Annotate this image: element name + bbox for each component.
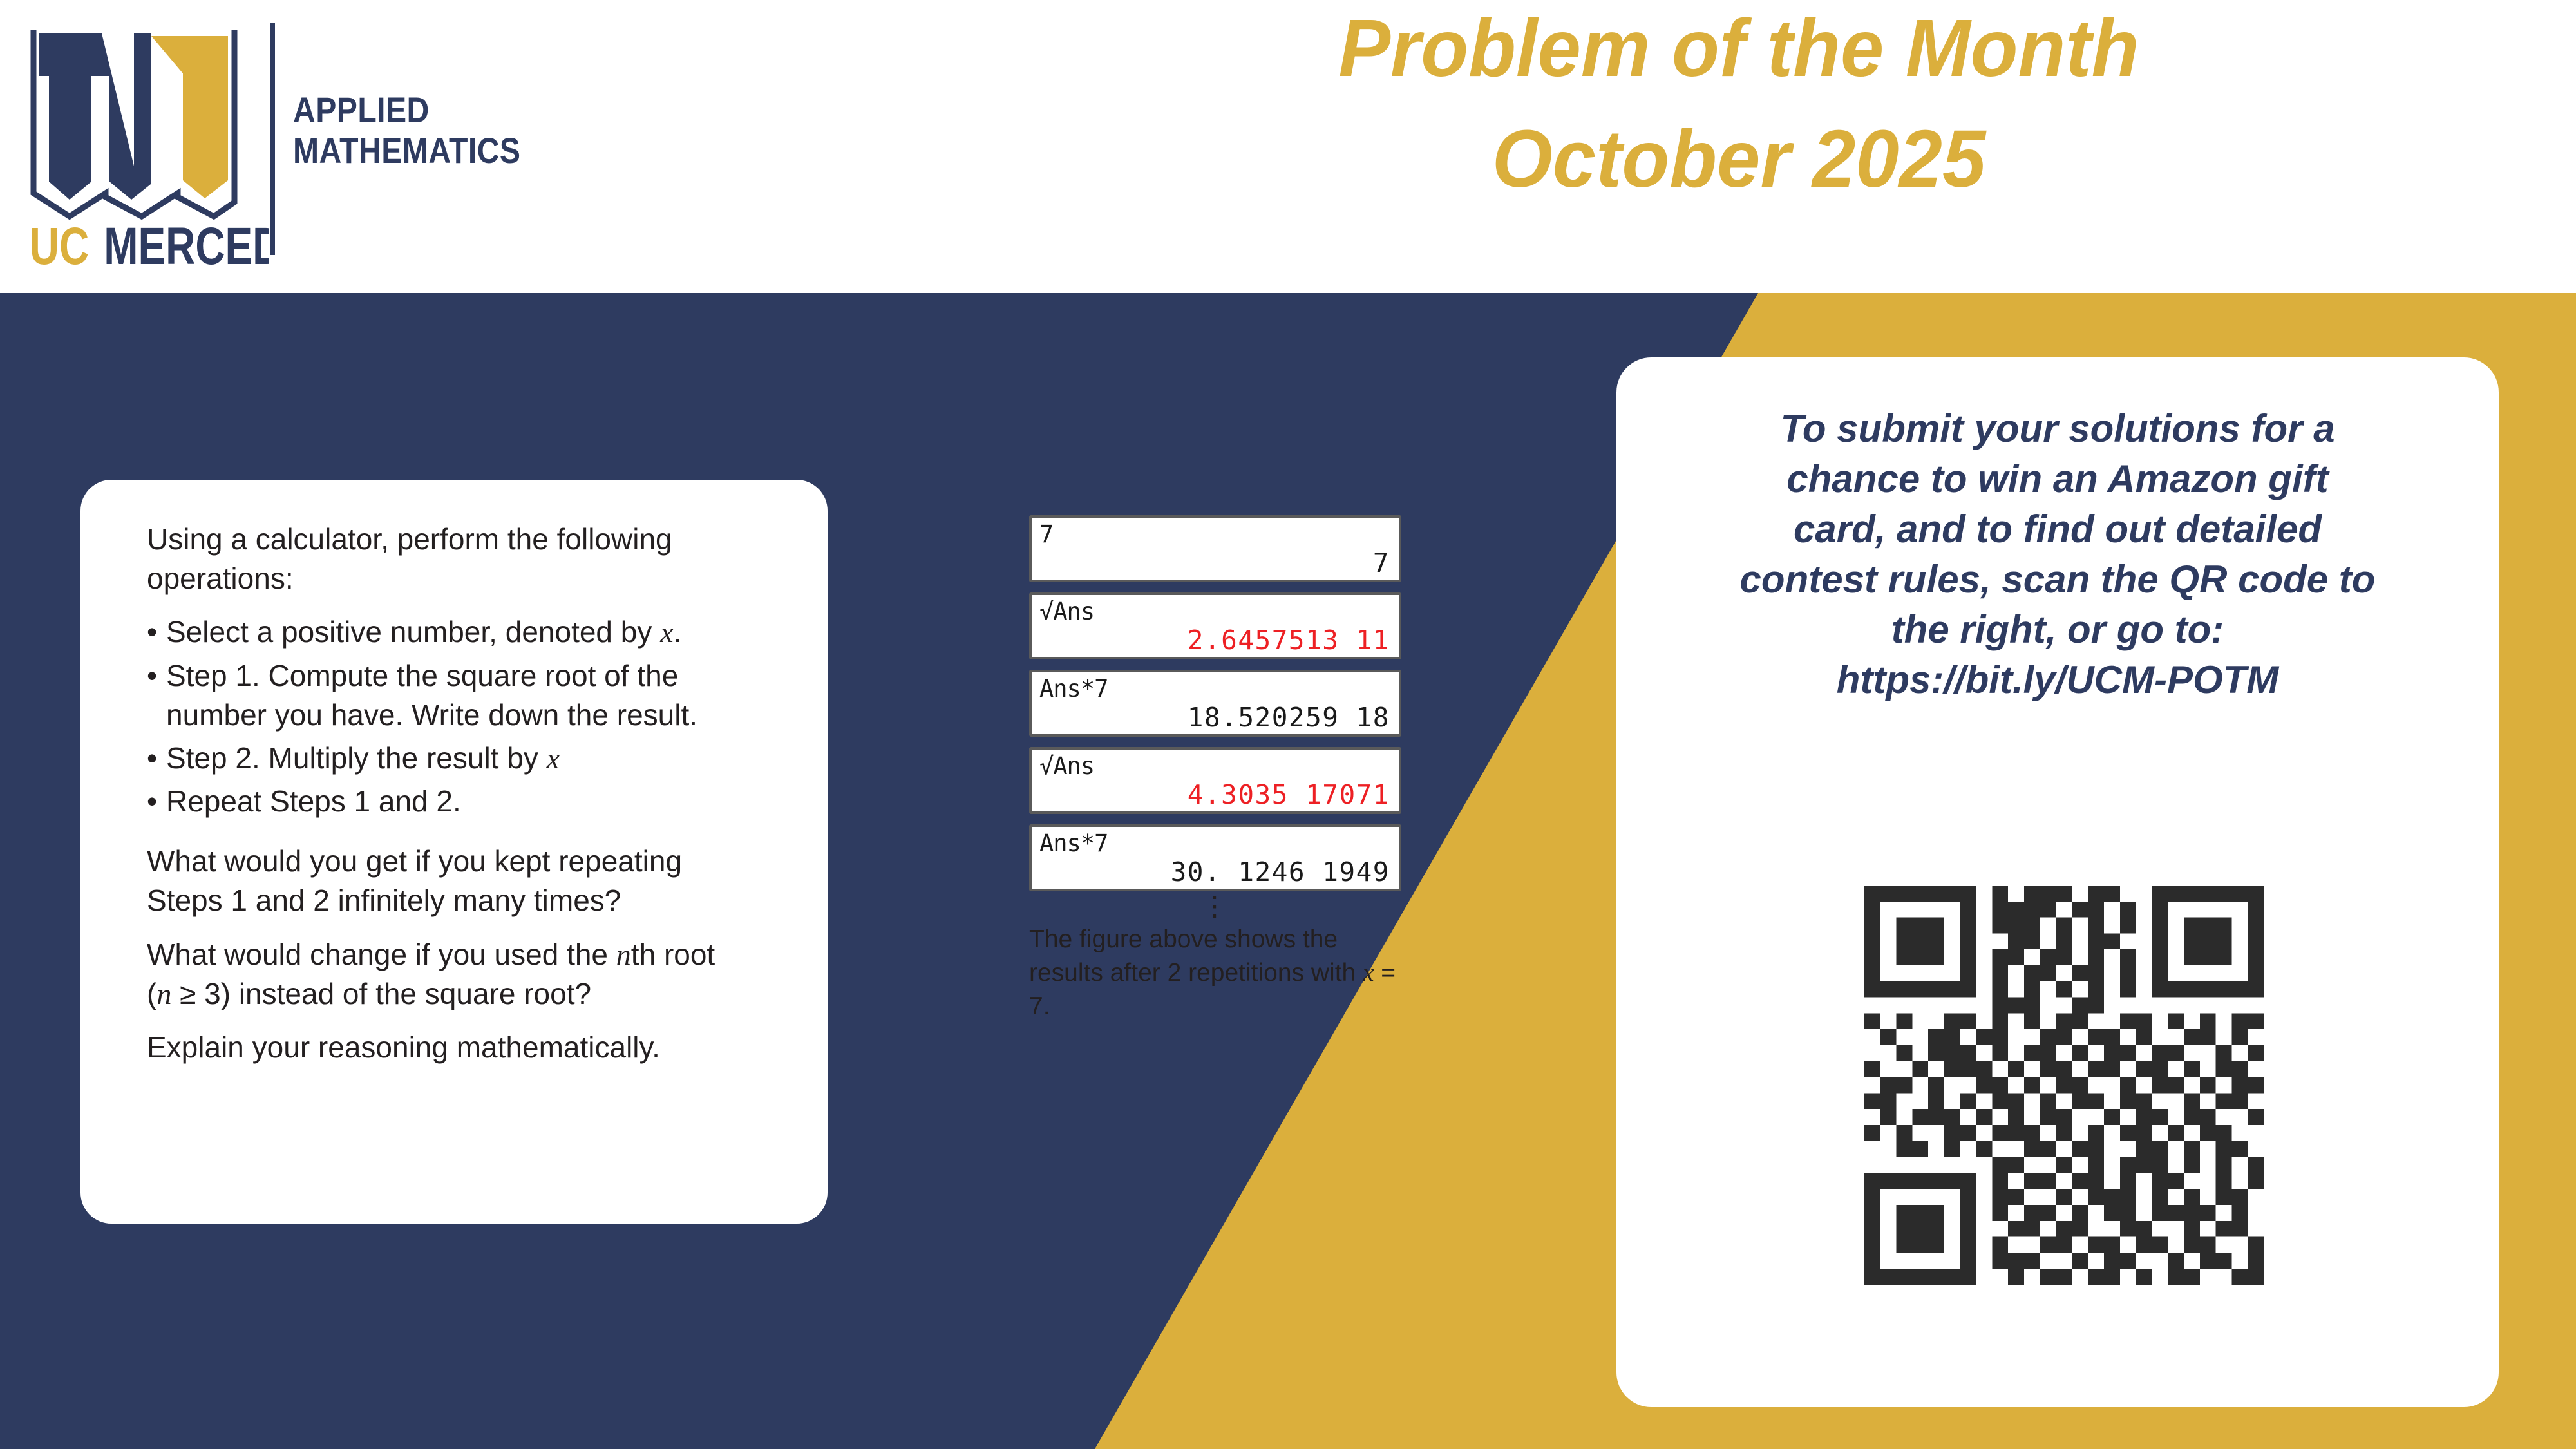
logo-m-gold xyxy=(151,36,228,198)
bullet-text-2: Step 1. Compute the square root of the n… xyxy=(166,656,726,735)
qr-code-canvas[interactable] xyxy=(1864,885,2264,1285)
submit-url[interactable]: https://bit.ly/UCM-POTM xyxy=(1645,655,2470,705)
calculator-ellipsis: ⋮ xyxy=(1029,899,1401,913)
submit-instructions: To submit your solutions for a chance to… xyxy=(1645,404,2470,705)
calc-result-1: 7 xyxy=(1373,547,1390,578)
calc-result-2: 2.6457513 11 xyxy=(1188,625,1390,656)
logo-merced-text: MERCED xyxy=(104,216,269,276)
bullet-text-1: Select a positive number, denoted by x. xyxy=(166,612,726,652)
calc-entry-5: Ans*7 xyxy=(1039,829,1108,857)
calculator-screen-2: √Ans 2.6457513 11 xyxy=(1029,592,1401,659)
poster-root: UC MERCED APPLIED MATHEMATICS Problem of… xyxy=(0,0,2576,1449)
problem-question-1: What would you get if you kept repeating… xyxy=(147,842,726,920)
submit-line-1: To submit your solutions for a xyxy=(1645,404,2470,454)
department-name: APPLIED MATHEMATICS xyxy=(293,90,520,171)
submit-card: To submit your solutions for a chance to… xyxy=(1616,357,2499,1407)
calc-entry-3: Ans*7 xyxy=(1039,675,1108,703)
calc-entry-1: 7 xyxy=(1039,520,1053,548)
bullet-text-3: Step 2. Multiply the result by x xyxy=(166,739,726,778)
calculator-caption: The figure above shows the results after… xyxy=(1029,923,1403,1023)
problem-statement: Using a calculator, perform the followin… xyxy=(147,520,726,1081)
spacer-1 xyxy=(147,825,726,842)
logo-artwork: UC MERCED xyxy=(24,12,269,276)
bullet-marker-2: • xyxy=(147,656,166,735)
problem-bullet-4: • Repeat Steps 1 and 2. xyxy=(147,782,726,821)
calc-result-5: 30. 1246 1949 xyxy=(1171,857,1390,887)
problem-bullet-3: • Step 2. Multiply the result by x xyxy=(147,739,726,778)
title-line-2: October 2025 xyxy=(1151,89,2326,200)
calc-result-4: 4.3035 17071 xyxy=(1188,779,1390,810)
department-line-2: MATHEMATICS xyxy=(293,131,520,171)
bullet-marker-3: • xyxy=(147,739,166,778)
submit-line-3: card, and to find out detailed xyxy=(1645,504,2470,554)
logo-divider xyxy=(270,23,275,255)
problem-bullet-2: • Step 1. Compute the square root of the… xyxy=(147,656,726,735)
ucmerced-logo: UC MERCED xyxy=(24,12,269,276)
logo-m-navy xyxy=(39,33,151,200)
title-line-1: Problem of the Month xyxy=(1151,1,2326,89)
calculator-screen-4: √Ans 4.3035 17071 xyxy=(1029,747,1401,814)
problem-intro: Using a calculator, perform the followin… xyxy=(147,520,726,598)
submit-line-5: the right, or go to: xyxy=(1645,605,2470,655)
calc-entry-4: √Ans xyxy=(1039,752,1094,780)
logo-uc-text: UC xyxy=(30,216,89,276)
bullet-marker-1: • xyxy=(147,612,166,652)
calc-entry-2: √Ans xyxy=(1039,598,1094,625)
calculator-screen-3: Ans*7 18.520259 18 xyxy=(1029,670,1401,737)
submit-line-4: contest rules, scan the QR code to xyxy=(1645,554,2470,605)
calculator-screen-1: 7 7 xyxy=(1029,515,1401,582)
calc-result-3: 18.520259 18 xyxy=(1188,702,1390,733)
header-bar: UC MERCED APPLIED MATHEMATICS Problem of… xyxy=(0,0,2576,293)
problem-question-2: What would change if you used the nth ro… xyxy=(147,935,726,1014)
problem-bullet-1: • Select a positive number, denoted by x… xyxy=(147,612,726,652)
problem-card: Using a calculator, perform the followin… xyxy=(80,480,828,1224)
bullet-marker-4: • xyxy=(147,782,166,821)
submit-line-2: chance to win an Amazon gift xyxy=(1645,454,2470,504)
bullet-text-4: Repeat Steps 1 and 2. xyxy=(166,782,726,821)
poster-title: Problem of the Month October 2025 xyxy=(1127,1,2351,200)
calculator-screen-5: Ans*7 30. 1246 1949 xyxy=(1029,824,1401,891)
problem-question-3: Explain your reasoning mathematically. xyxy=(147,1028,726,1067)
department-line-1: APPLIED xyxy=(293,90,520,131)
qr-code[interactable] xyxy=(1864,885,2264,1285)
calculator-figure: 7 7 √Ans 2.6457513 11 Ans*7 18.520259 18… xyxy=(1029,515,1441,1023)
